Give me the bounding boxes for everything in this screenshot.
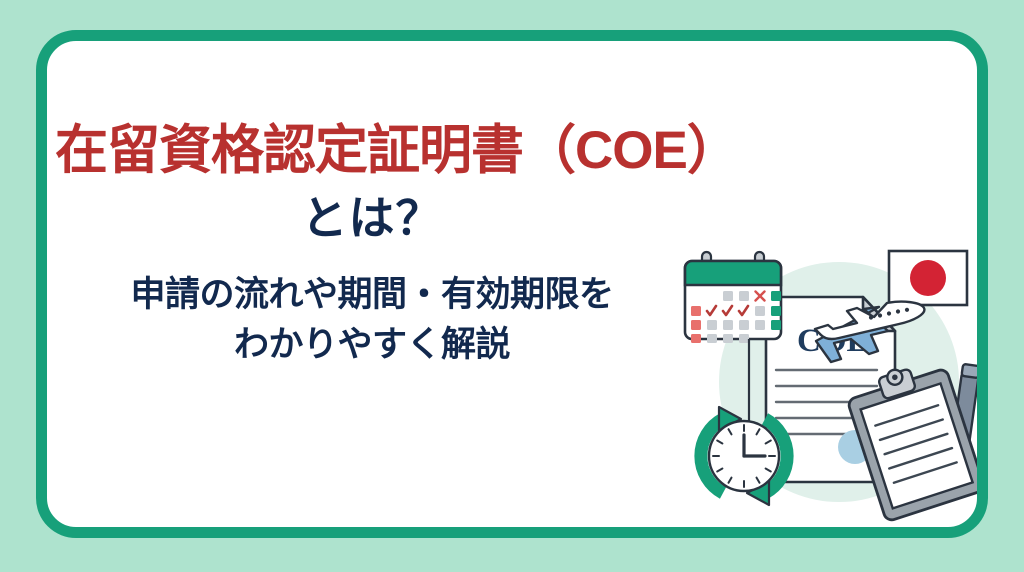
page-title: 在留資格認定証明書（COE） [55, 123, 697, 179]
japan-flag-icon [889, 251, 967, 305]
banner-root: 在留資格認定証明書（COE） とは？ 申請の流れや期間・有効期限を わかりやすく… [0, 0, 1024, 572]
subtitle-line-1: 申請の流れや期間・有効期限を [47, 270, 697, 320]
subtitle-line-2: わかりやすく解説 [47, 320, 697, 370]
calendar-header [685, 261, 781, 285]
illustration-svg: COE [671, 239, 988, 529]
rounded-frame: 在留資格認定証明書（COE） とは？ 申請の流れや期間・有効期限を わかりやすく… [36, 30, 988, 538]
headline-block: 在留資格認定証明書（COE） とは？ 申請の流れや期間・有効期限を わかりやすく… [47, 123, 697, 369]
flag-disc [910, 260, 946, 296]
subtitle: 申請の流れや期間・有効期限を わかりやすく解説 [47, 270, 697, 369]
calendar-icon [685, 252, 781, 343]
page-title-question: とは？ [47, 191, 697, 246]
clock-cycle-icon [701, 407, 787, 505]
coe-illustration: COE [671, 239, 988, 529]
